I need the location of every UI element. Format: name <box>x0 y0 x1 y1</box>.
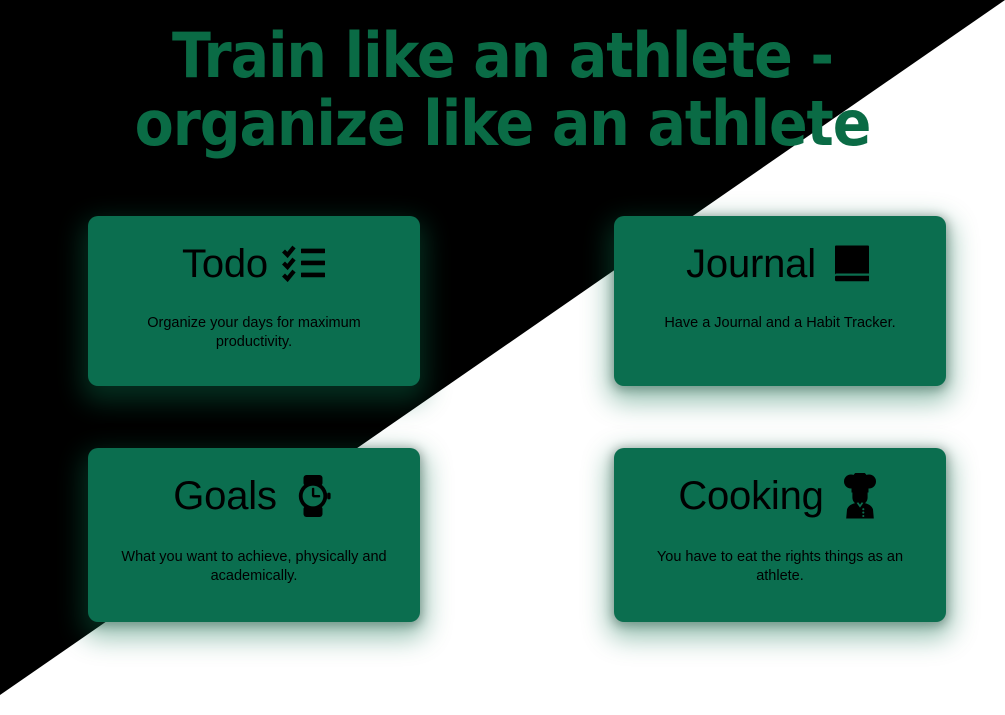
checklist-icon <box>282 242 326 286</box>
chef-icon <box>838 474 882 518</box>
page-title-line-1: Train like an athlete - <box>40 22 965 90</box>
book-icon <box>830 242 874 286</box>
card-description-goals: What you want to achieve, physically and… <box>115 548 394 586</box>
feature-card-journal[interactable]: Journal Have a Journal and a Habit Track… <box>614 216 946 386</box>
card-description-journal: Have a Journal and a Habit Tracker. <box>641 314 920 333</box>
card-header-todo: Todo <box>88 242 420 286</box>
card-title-journal: Journal <box>686 242 816 286</box>
card-description-todo: Organize your days for maximum productiv… <box>115 314 394 352</box>
page-title: Train like an athlete - organize like an… <box>40 22 965 158</box>
page-title-line-2: organize like an athlete <box>40 90 965 158</box>
card-title-todo: Todo <box>182 242 268 286</box>
card-header-cooking: Cooking <box>614 474 946 518</box>
feature-card-goals[interactable]: Goals What you want to achieve, physical… <box>88 448 420 622</box>
card-title-cooking: Cooking <box>678 474 823 518</box>
card-header-goals: Goals <box>88 474 420 518</box>
feature-card-cooking[interactable]: Cooking <box>614 448 946 622</box>
watch-icon <box>291 474 335 518</box>
card-header-journal: Journal <box>614 242 946 286</box>
card-title-goals: Goals <box>173 474 277 518</box>
slide-canvas: Train like an athlete - organize like an… <box>0 0 1005 715</box>
feature-card-todo[interactable]: Todo Organize your days for maximum p <box>88 216 420 386</box>
card-description-cooking: You have to eat the rights things as an … <box>641 548 920 586</box>
